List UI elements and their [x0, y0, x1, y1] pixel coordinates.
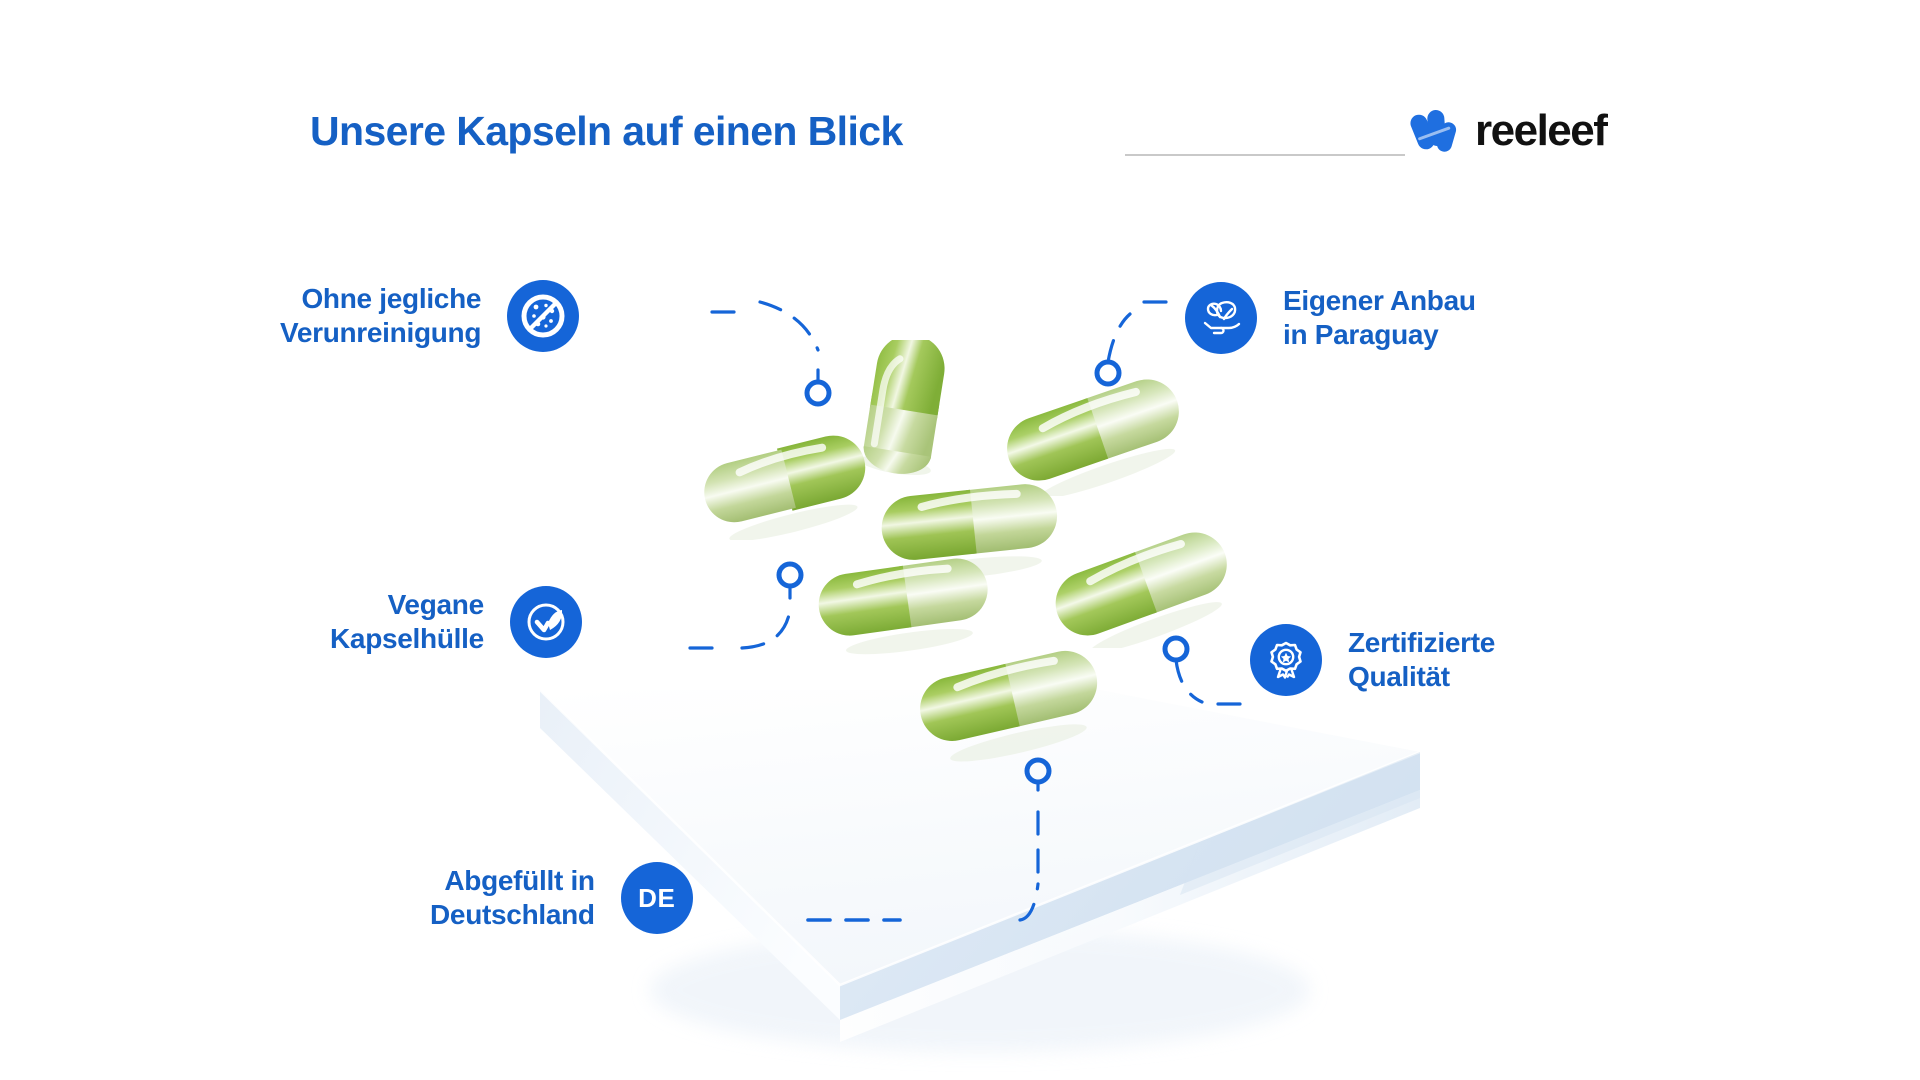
feature-cultivation-label: Eigener Anbau in Paraguay — [1283, 284, 1476, 352]
feature-certified-label: Zertifizierte Qualität — [1348, 626, 1495, 694]
feature-bottled-label: Abgefüllt in Deutschland — [430, 864, 595, 932]
feature-vegan-label: Vegane Kapselhülle — [330, 588, 484, 656]
no-contamination-icon — [507, 280, 579, 352]
feature-certified[interactable]: Zertifizierte Qualität — [1250, 624, 1495, 696]
capsule — [700, 430, 868, 540]
leaf-check-icon — [510, 586, 582, 658]
feature-purity-label: Ohne jegliche Verunreinigung — [280, 282, 481, 350]
de-country-badge: DE — [621, 862, 693, 934]
capsule — [916, 642, 1102, 762]
feature-cultivation[interactable]: Eigener Anbau in Paraguay — [1185, 282, 1476, 354]
brand-logo[interactable]: reeleef — [1408, 108, 1606, 154]
feature-purity[interactable]: Ohne jegliche Verunreinigung — [280, 280, 579, 352]
quality-seal-icon — [1250, 624, 1322, 696]
connector-pin — [807, 382, 829, 404]
header: Unsere Kapseln auf einen Blick reeleef — [0, 52, 1920, 122]
logo-wordmark: reeleef — [1475, 109, 1606, 153]
feature-vegan[interactable]: Vegane Kapselhülle — [330, 586, 582, 658]
page-title: Unsere Kapseln auf einen Blick — [310, 108, 903, 155]
product-scene — [0, 0, 1920, 1080]
capsule — [1050, 530, 1234, 648]
hand-holding-leaf-icon — [1185, 282, 1257, 354]
infographic-canvas: Unsere Kapseln auf einen Blick reeleef O… — [0, 0, 1920, 1080]
feature-bottled[interactable]: Abgefüllt in Deutschland DE — [430, 862, 693, 934]
capsule — [856, 340, 952, 480]
connector-pin — [779, 564, 801, 586]
capsule-leaf-logo-icon — [1408, 108, 1462, 154]
header-divider — [1125, 154, 1405, 156]
